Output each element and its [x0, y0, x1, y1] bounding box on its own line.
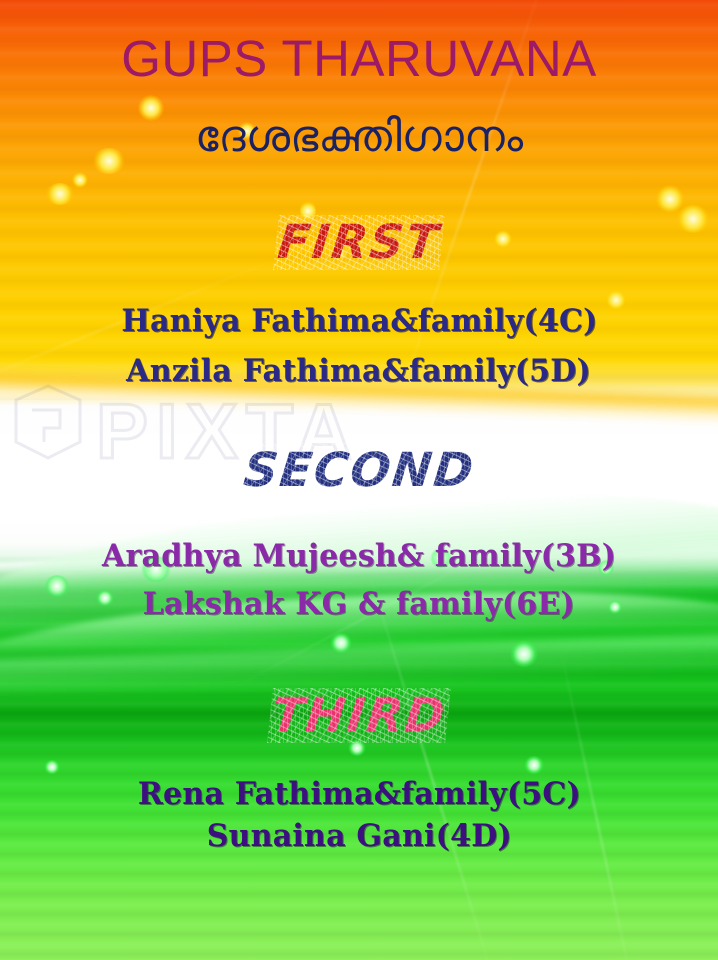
third-prize-heading-text: THIRD	[269, 692, 448, 739]
winner-row: Aradhya Mujeesh& family(3B)	[0, 541, 718, 572]
event-name-title: ദേശഭക്തിഗാനം	[0, 112, 718, 163]
winner-name: Aradhya Mujeesh& family(3B)	[102, 541, 616, 572]
winner-row: Anzila Fathima&family(5D)	[0, 356, 718, 387]
winner-name: Anzila Fathima&family(5D)	[127, 356, 592, 387]
poster-canvas: PIXTA GUPS THARUVANA ദേശഭക്തിഗാനം FIRST …	[0, 0, 718, 960]
winner-name: Sunaina Gani(4D)	[206, 821, 511, 852]
first-prize-heading-text: FIRST	[276, 219, 443, 266]
winner-name: Lakshak KG & family(6E)	[143, 589, 575, 620]
school-name-title: GUPS THARUVANA	[0, 31, 718, 87]
third-prize-heading: THIRD	[0, 692, 718, 739]
winner-row: Sunaina Gani(4D)	[0, 821, 718, 852]
first-prize-heading: FIRST	[0, 219, 718, 266]
winner-row: Rena Fathima&family(5C)	[0, 779, 718, 810]
winner-name: Haniya Fathima&family(4C)	[121, 306, 597, 337]
winner-row: Haniya Fathima&family(4C)	[0, 306, 718, 337]
second-prize-heading-text: SECOND	[241, 447, 477, 494]
winner-name: Rena Fathima&family(5C)	[137, 779, 580, 810]
winner-row: Lakshak KG & family(6E)	[0, 589, 718, 620]
second-prize-heading: SECOND	[0, 447, 718, 494]
poster-content: GUPS THARUVANA ദേശഭക്തിഗാനം FIRST Haniya…	[0, 0, 718, 960]
